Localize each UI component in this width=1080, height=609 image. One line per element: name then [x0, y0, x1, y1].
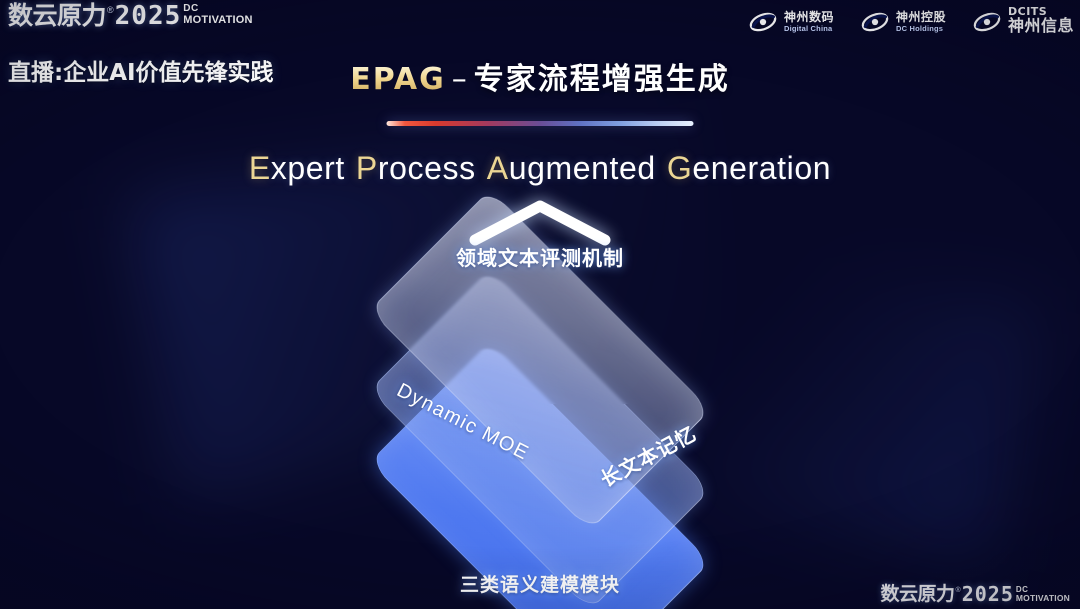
brand-logo-motivation: MOTIVATION — [183, 14, 252, 26]
swoosh-icon — [748, 10, 778, 34]
partner-logo-text: 神州数码 Digital China — [784, 11, 834, 33]
partner-name-en: Digital China — [784, 25, 834, 33]
slide-canvas: 数云原力 ® 2025 DC MOTIVATION 直播:企业AI价值先锋实践 … — [0, 0, 1080, 609]
brand-logo-topleft: 数云原力 ® 2025 DC MOTIVATION — [8, 2, 253, 30]
brand-logo-cjk: 数云原力 — [8, 2, 106, 30]
brand-logo-cjk: 数云原力 — [881, 584, 955, 605]
title-acronym: EPAG — [350, 62, 446, 97]
brand-logo-dc-motivation: DC MOTIVATION — [1016, 586, 1070, 603]
partner-name-en: DC Holdings — [896, 25, 946, 33]
partner-logo-text: DCITS 神州信息 — [1008, 6, 1074, 37]
page-title: EPAG–专家流程增强生成 — [0, 54, 1080, 98]
swoosh-icon — [972, 10, 1002, 34]
title-dash: – — [446, 62, 474, 97]
layered-architecture-diagram: 领域文本评测机制 Dynamic MOE 长文本记忆 三类语义建模模块 — [0, 228, 1080, 558]
partner-logo-text: 神州控股 DC Holdings — [896, 11, 946, 33]
brand-logo-motivation: MOTIVATION — [1016, 594, 1070, 603]
partner-logo-group: 神州数码 Digital China 神州控股 DC Holdings — [748, 6, 1074, 37]
title-divider — [387, 121, 694, 126]
partner-name-en: DCITS — [1008, 6, 1074, 17]
partner-name-cn: 神州信息 — [1008, 19, 1074, 35]
brand-logo-dc-motivation: DC MOTIVATION — [183, 4, 252, 26]
brand-logo-year: 2025 — [962, 584, 1014, 605]
swoosh-icon — [860, 10, 890, 34]
partner-name-cn: 神州数码 — [784, 11, 834, 23]
diagram-caption-overlay-bottom: 三类语义建模模块 — [320, 292, 760, 609]
partner-logo-digital-china: 神州数码 Digital China — [748, 10, 834, 34]
brand-logo-dc: DC — [183, 4, 252, 14]
title-cjk: 专家流程增强生成 — [474, 62, 730, 97]
partner-name-cn: 神州控股 — [896, 11, 946, 23]
diagram-layer-bottom-label: 三类语义建模模块 — [460, 570, 620, 597]
subtitle-cap-e: E — [249, 150, 271, 186]
brand-registered-mark: ® — [956, 586, 961, 595]
brand-logo-year: 2025 — [115, 2, 182, 30]
partner-logo-dcits: DCITS 神州信息 — [972, 6, 1074, 37]
brand-registered-mark: ® — [107, 4, 114, 16]
brand-logo-bottomright: 数云原力 ® 2025 DC MOTIVATION — [881, 584, 1070, 605]
partner-logo-dc-holdings: 神州控股 DC Holdings — [860, 10, 946, 34]
